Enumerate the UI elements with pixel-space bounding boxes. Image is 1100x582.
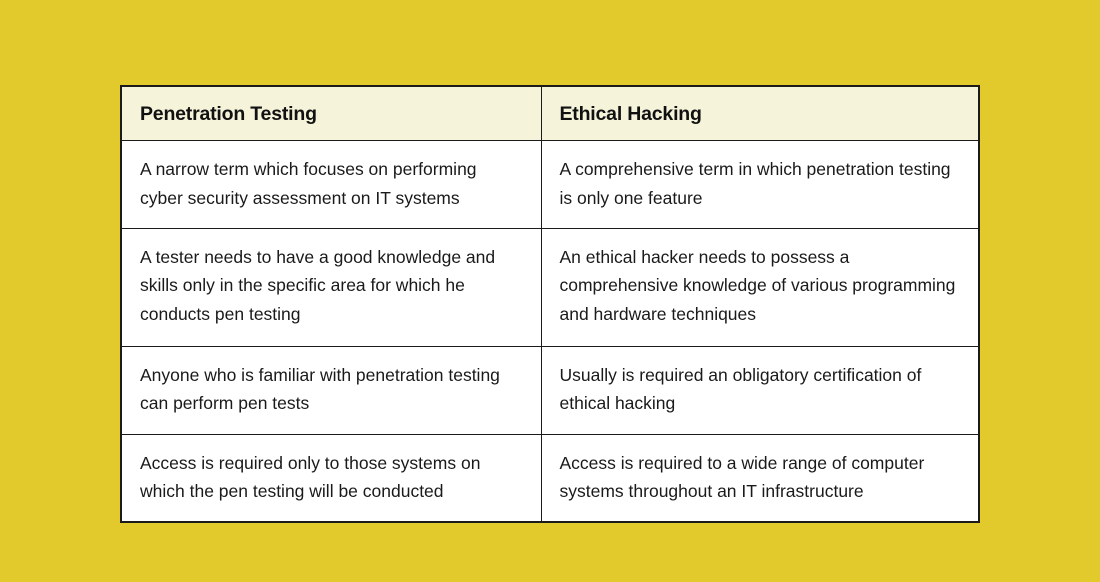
cell-ethical-hacking-2: An ethical hacker needs to possess a com… [541, 229, 979, 347]
table-row: A narrow term which focuses on performin… [121, 141, 979, 229]
table-header-row: Penetration Testing Ethical Hacking [121, 86, 979, 141]
column-header-ethical-hacking: Ethical Hacking [541, 86, 979, 141]
cell-penetration-testing-2: A tester needs to have a good knowledge … [121, 229, 541, 347]
column-header-penetration-testing: Penetration Testing [121, 86, 541, 141]
comparison-table: Penetration Testing Ethical Hacking A na… [120, 85, 980, 523]
comparison-table-container: Penetration Testing Ethical Hacking A na… [120, 85, 978, 523]
cell-ethical-hacking-3: Usually is required an obligatory certif… [541, 347, 979, 435]
cell-ethical-hacking-4: Access is required to a wide range of co… [541, 434, 979, 522]
cell-ethical-hacking-1: A comprehensive term in which penetratio… [541, 141, 979, 229]
table-body: A narrow term which focuses on performin… [121, 141, 979, 523]
page-canvas: Penetration Testing Ethical Hacking A na… [0, 0, 1100, 582]
table-header: Penetration Testing Ethical Hacking [121, 86, 979, 141]
cell-penetration-testing-1: A narrow term which focuses on performin… [121, 141, 541, 229]
table-row: Anyone who is familiar with penetration … [121, 347, 979, 435]
cell-penetration-testing-3: Anyone who is familiar with penetration … [121, 347, 541, 435]
table-row: A tester needs to have a good knowledge … [121, 229, 979, 347]
table-row: Access is required only to those systems… [121, 434, 979, 522]
cell-penetration-testing-4: Access is required only to those systems… [121, 434, 541, 522]
